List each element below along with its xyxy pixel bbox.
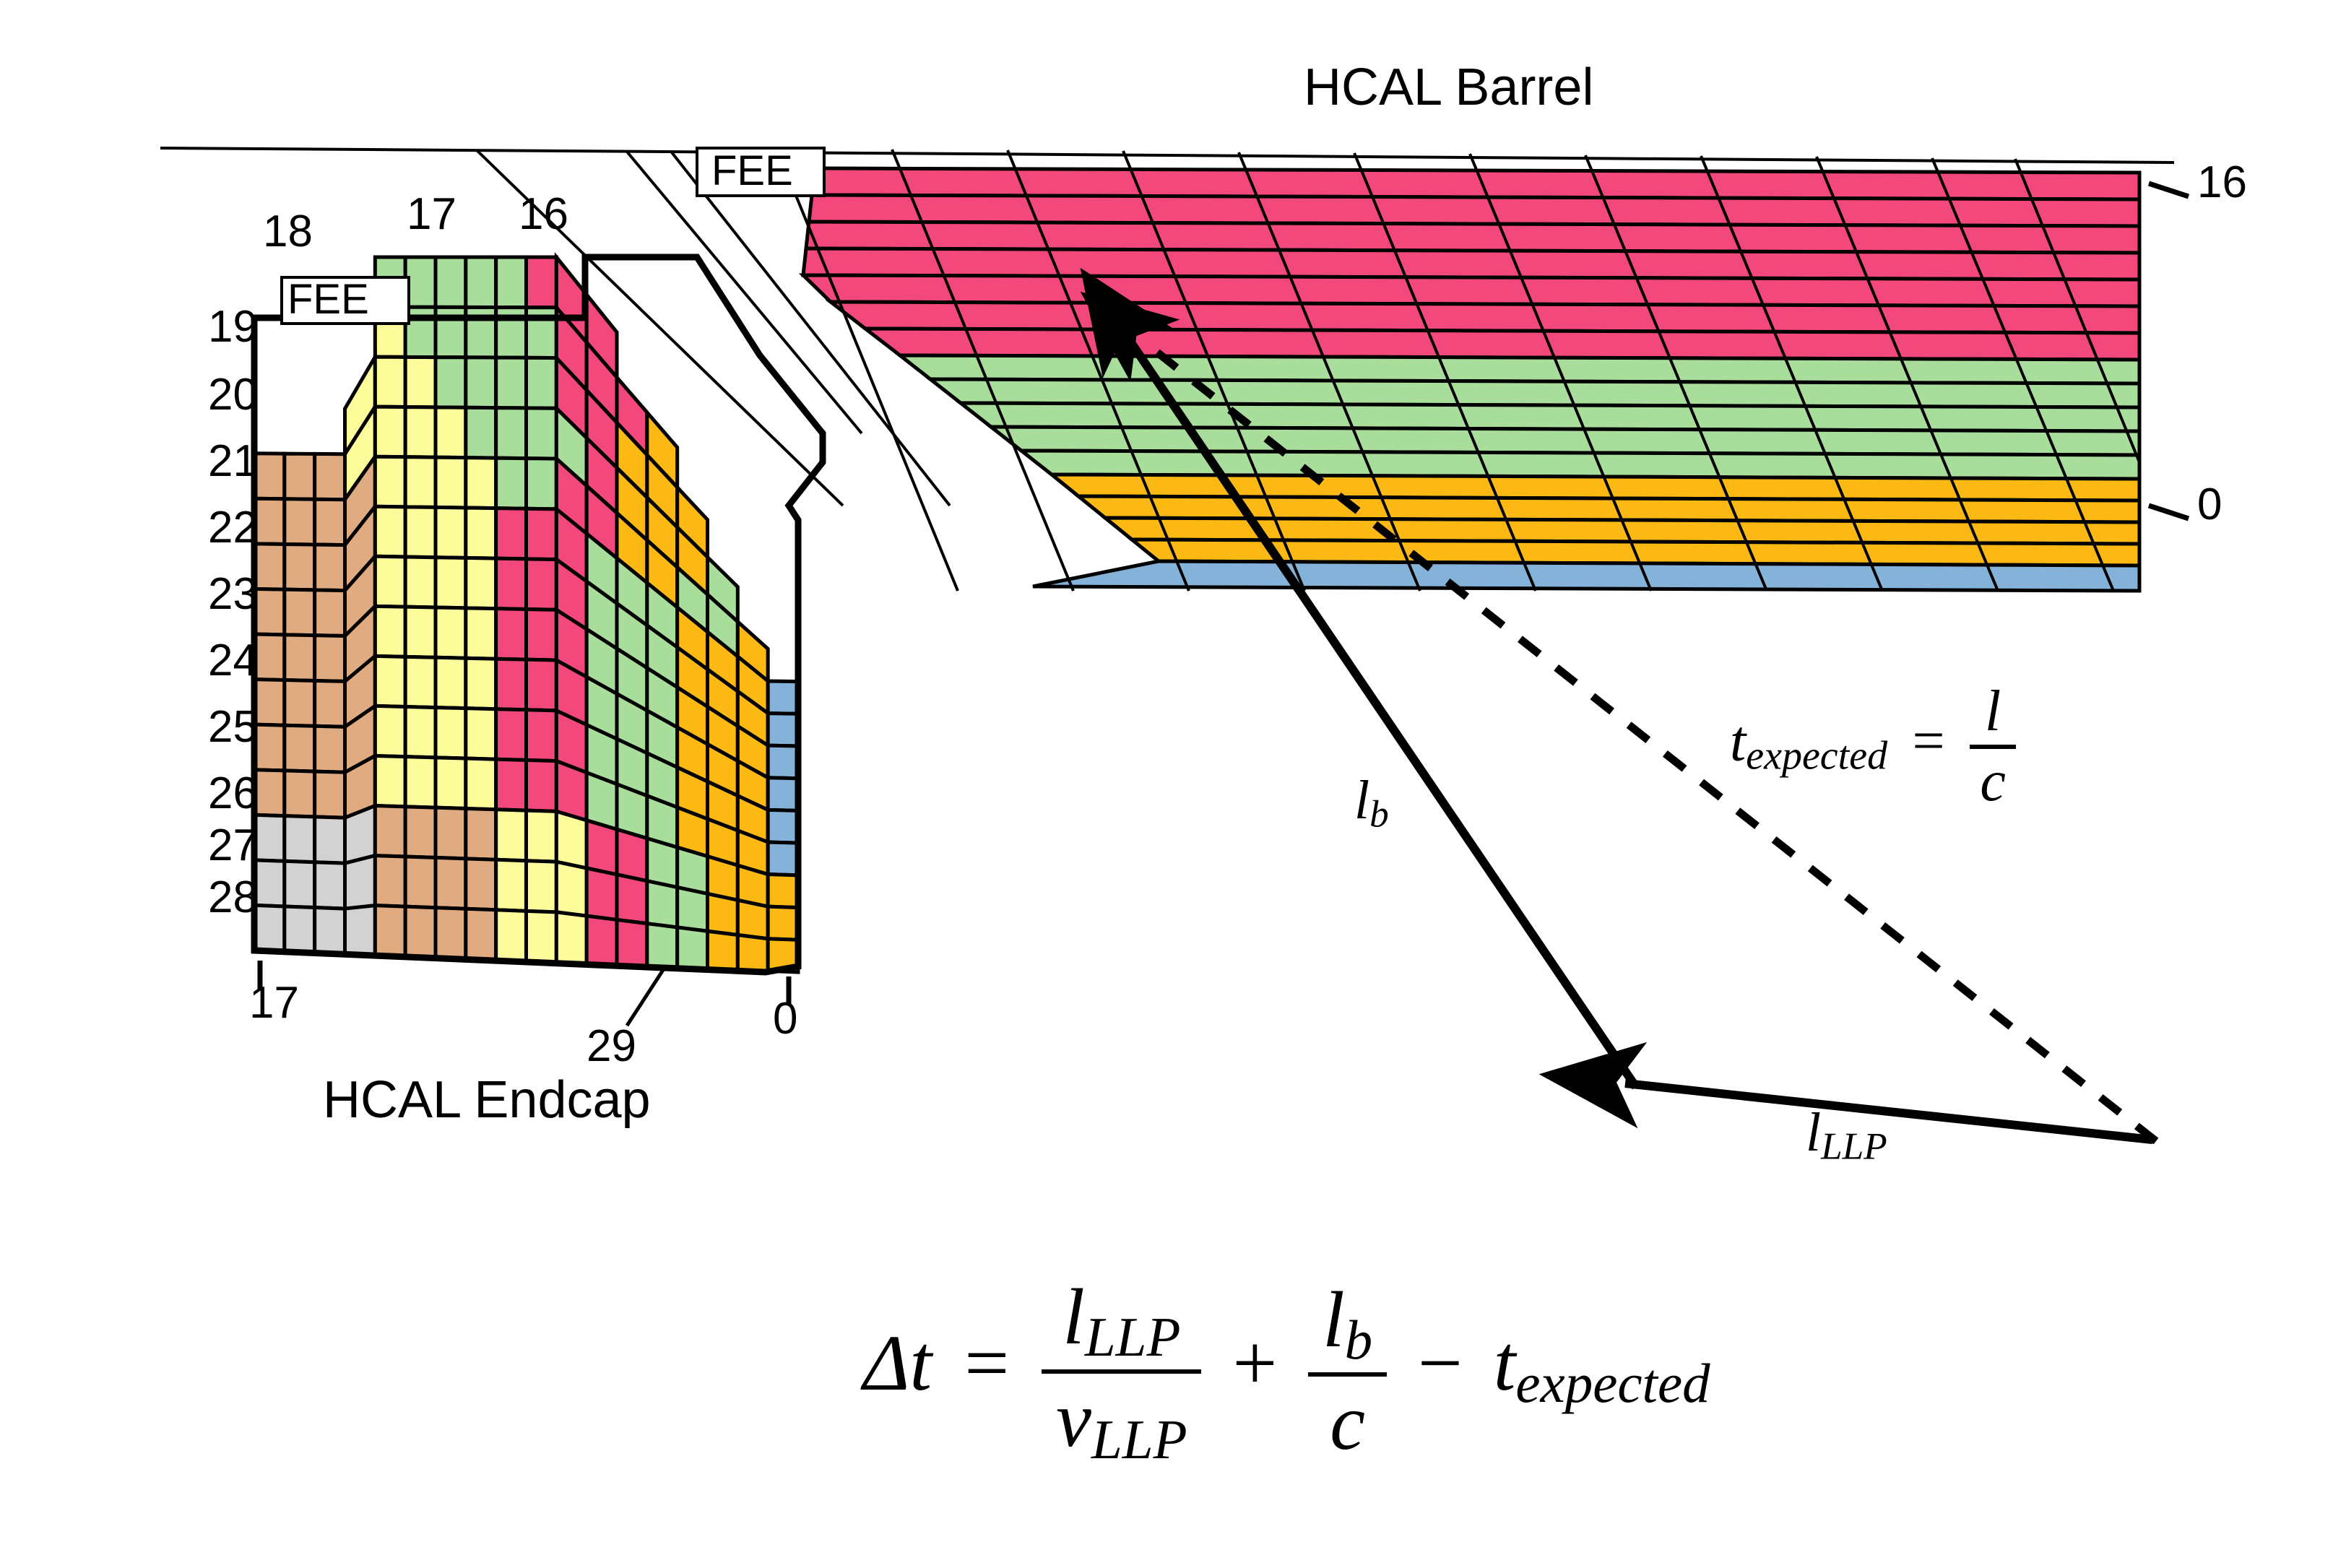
- endcap-cell: [466, 508, 496, 558]
- endcap-cell: [254, 544, 285, 589]
- endcap-cell: [527, 358, 557, 408]
- endcap-cell: [496, 408, 527, 459]
- endcap-cell: [768, 745, 798, 779]
- endcap-cell: [254, 589, 285, 634]
- endcap-cell: [345, 806, 376, 864]
- deltat-lhs: Δt: [863, 1319, 932, 1407]
- endcap-fee-label: FEE: [287, 279, 369, 321]
- endcap-cell: [405, 807, 436, 858]
- endcap-cell: [496, 659, 527, 710]
- endcap-cell: [496, 709, 527, 761]
- endcap-cell: [254, 770, 285, 816]
- endcap-cell: [527, 257, 557, 308]
- endcap-top-label-18: 18: [263, 209, 313, 254]
- barrel-group-blue: [1033, 561, 2139, 591]
- barrel-tick-0: [2149, 506, 2189, 519]
- endcap-cell: [254, 815, 285, 861]
- endcap-cell: [527, 610, 557, 661]
- endcap-cell: [527, 408, 557, 459]
- endcap-cell: [496, 558, 527, 609]
- endcap-row-label-23: 23: [208, 572, 258, 617]
- arrow-lllp: [1625, 1083, 2152, 1140]
- endcap-cell: [436, 758, 466, 809]
- endcap-cell: [405, 857, 436, 908]
- endcap-cell: [768, 906, 798, 940]
- endcap-cell: [466, 558, 496, 608]
- endcap-cell: [737, 900, 768, 938]
- endcap-cell: [466, 808, 496, 859]
- endcap-cell: [254, 680, 285, 726]
- endcap-cell: [315, 590, 345, 636]
- endcap-cell: [527, 760, 557, 811]
- endcap-cell: [556, 862, 586, 916]
- endcap-cell: [285, 499, 315, 545]
- endcap-cell: [436, 407, 466, 458]
- endcap-cell: [285, 635, 315, 681]
- endcap-cell: [375, 806, 405, 857]
- endcap-cell: [405, 707, 436, 758]
- endcap-cell: [315, 726, 345, 772]
- endcap-cell: [315, 908, 345, 954]
- endcap-cell: [708, 893, 738, 935]
- deltat-term2-numerator: lb: [1308, 1274, 1387, 1372]
- endcap-cell: [527, 710, 557, 761]
- deltat-equals: =: [952, 1319, 1022, 1407]
- barrel-group-green: [900, 355, 2139, 479]
- endcap-cell: [527, 559, 557, 610]
- texpected-lhs-sub: expected: [1746, 734, 1887, 779]
- equation-delta-t: Δt = lLLP vLLP + lb c − texpected: [863, 1271, 1710, 1472]
- endcap-cell: [345, 906, 376, 956]
- barrel-fee-label: FEE: [711, 150, 793, 192]
- endcap-cell: [586, 916, 617, 965]
- endcap-cell: [466, 358, 496, 408]
- endcap-cell: [375, 856, 405, 907]
- endcap-cell: [375, 407, 405, 457]
- label-lllp: lLLP: [1806, 1105, 1887, 1166]
- endcap-cell: [436, 558, 466, 608]
- endcap-row-label-22: 22: [208, 506, 258, 550]
- endcap-cell: [768, 681, 798, 714]
- deltat-term1-num-sub: LLP: [1085, 1306, 1181, 1368]
- endcap-cell: [768, 714, 798, 746]
- endcap-row-label-19: 19: [208, 305, 258, 350]
- endcap-cell: [405, 757, 436, 807]
- endcap-cell: [768, 778, 798, 811]
- endcap-bottom-label-0: 0: [773, 997, 797, 1041]
- endcap-cell: [405, 357, 436, 407]
- endcap-cell: [496, 458, 527, 508]
- endcap-cell: [315, 545, 345, 591]
- barrel-layer-stack: [803, 168, 2139, 591]
- deltat-term2-num-sub: b: [1345, 1309, 1373, 1371]
- endcap-cell: [254, 905, 285, 951]
- endcap-cell: [556, 811, 586, 868]
- endcap-row-label-28: 28: [208, 875, 258, 920]
- endcap-cell: [285, 589, 315, 636]
- endcap-cell: [527, 508, 557, 559]
- endcap-cell: [315, 636, 345, 682]
- endcap-cell: [285, 454, 315, 499]
- endcap-bottom-label-17: 17: [249, 981, 299, 1026]
- label-lb-sub: b: [1369, 793, 1389, 836]
- endcap-cell: [527, 861, 557, 912]
- endcap-title: HCAL Endcap: [323, 1074, 651, 1126]
- endcap-cell: [647, 881, 678, 927]
- endcap-cell: [375, 506, 405, 557]
- endcap-cell: [496, 859, 527, 911]
- endcap-cell: [466, 658, 496, 709]
- deltat-term2-denominator: c: [1308, 1372, 1387, 1468]
- deltat-term1-fraction: lLLP vLLP: [1042, 1271, 1201, 1472]
- endcap-cell: [617, 875, 647, 924]
- endcap-cell: [496, 910, 527, 961]
- endcap-cell: [678, 927, 708, 969]
- deltat-op-minus: −: [1406, 1319, 1473, 1407]
- endcap-cell: [405, 657, 436, 707]
- endcap-cell: [436, 708, 466, 758]
- endcap-cell-grid: [254, 257, 798, 972]
- endcap-cell: [375, 906, 405, 957]
- barrel-tick-16: [2149, 183, 2189, 196]
- endcap-cell: [285, 771, 315, 817]
- endcap-cell: [586, 820, 617, 875]
- endcap-cell: [527, 911, 557, 962]
- endcap-cell: [496, 810, 527, 861]
- endcap-cell: [436, 657, 466, 708]
- endcap-cell: [436, 457, 466, 508]
- label-lb: lb: [1354, 773, 1389, 833]
- texpected-equals: =: [1902, 709, 1955, 773]
- deltat-op-plus: +: [1221, 1319, 1289, 1407]
- endcap-row-label-21: 21: [208, 439, 258, 484]
- endcap-cell: [315, 862, 345, 909]
- endcap-row-label-20: 20: [208, 373, 258, 417]
- hcal-endcap-group: [254, 257, 823, 1026]
- endcap-cell: [254, 634, 285, 680]
- label-lllp-sym: l: [1806, 1102, 1821, 1163]
- texpected-denominator: c: [1970, 745, 2016, 815]
- figure-canvas: HCAL Barrel FEE 16 0 HCAL Endcap FEE 18 …: [0, 0, 2346, 1568]
- endcap-cell: [768, 875, 798, 908]
- endcap-cell: [285, 861, 315, 907]
- endcap-cell: [586, 868, 617, 919]
- endcap-cell: [405, 557, 436, 607]
- endcap-cell: [737, 935, 768, 971]
- deltat-term1-numerator: lLLP: [1042, 1271, 1201, 1369]
- endcap-row-label-26: 26: [208, 771, 258, 816]
- endcap-cell: [315, 771, 345, 818]
- texpected-numerator: l: [1970, 679, 2016, 745]
- endcap-cell: [285, 544, 315, 589]
- endcap-cell: [647, 839, 678, 888]
- texpected-lhs-sym: t: [1730, 709, 1746, 773]
- endcap-cell: [466, 458, 496, 508]
- endcap-cell: [466, 709, 496, 760]
- endcap-cell: [375, 706, 405, 756]
- endcap-cell: [315, 454, 345, 499]
- label-lllp-sub: LLP: [1821, 1125, 1887, 1168]
- deltat-term1-denominator: vLLP: [1042, 1369, 1201, 1472]
- endcap-cell: [617, 919, 647, 966]
- deltat-term1-den-sub: LLP: [1091, 1408, 1187, 1470]
- endcap-cell: [375, 606, 405, 657]
- endcap-cell: [496, 759, 527, 810]
- endcap-cell: [527, 659, 557, 711]
- endcap-cell: [768, 842, 798, 875]
- endcap-cell: [375, 556, 405, 607]
- endcap-cell: [496, 508, 527, 559]
- endcap-row-label-27: 27: [208, 823, 258, 868]
- endcap-cell: [375, 357, 405, 407]
- endcap-cell: [768, 810, 798, 843]
- endcap-cell: [254, 454, 285, 499]
- endcap-cell: [285, 906, 315, 953]
- endcap-cell: [254, 498, 285, 544]
- deltat-term1-den-sym: v: [1056, 1375, 1091, 1463]
- endcap-cell: [466, 407, 496, 458]
- endcap-cell: [405, 906, 436, 958]
- endcap-cell: [254, 724, 285, 771]
- endcap-cell: [556, 912, 586, 963]
- deltat-term3-sym: t: [1494, 1319, 1516, 1407]
- equation-texpected: texpected = l c: [1730, 679, 2016, 815]
- barrel-tick-label-16: 16: [2197, 160, 2247, 205]
- endcap-callout-label-29: 29: [586, 1024, 636, 1069]
- texpected-fraction: l c: [1970, 679, 2016, 815]
- endcap-cell: [496, 257, 527, 308]
- endcap-cell: [527, 810, 557, 862]
- endcap-cell: [436, 607, 466, 658]
- endcap-cell: [466, 758, 496, 810]
- endcap-cell: [405, 457, 436, 508]
- barrel-group-orange: [1052, 475, 2139, 566]
- endcap-cell: [315, 499, 345, 545]
- deltat-term2-num-sym: l: [1323, 1275, 1345, 1364]
- endcap-cell: [375, 456, 405, 507]
- endcap-cell: [285, 680, 315, 727]
- endcap-cell: [345, 856, 376, 909]
- endcap-cell: [617, 829, 647, 880]
- endcap-cell: [466, 257, 496, 308]
- endcap-cell: [647, 924, 678, 968]
- endcap-cell: [436, 857, 466, 909]
- endcap-cell: [405, 607, 436, 657]
- endcap-cell: [496, 609, 527, 659]
- endcap-row-label-24: 24: [208, 638, 258, 683]
- endcap-cell: [466, 608, 496, 659]
- endcap-cell: [375, 656, 405, 706]
- endcap-cell: [254, 860, 285, 906]
- label-lb-sym: l: [1354, 770, 1369, 831]
- endcap-cell: [375, 755, 405, 806]
- endcap-cell: [466, 909, 496, 960]
- endcap-cell: [315, 680, 345, 727]
- endcap-cell: [466, 859, 496, 910]
- endcap-top-label-16: 16: [519, 192, 568, 237]
- endcap-callout-29-leader: [627, 968, 665, 1026]
- barrel-group-pink: [803, 168, 2139, 360]
- endcap-cell: [496, 358, 527, 408]
- endcap-cell: [405, 507, 436, 558]
- endcap-cell: [436, 358, 466, 408]
- barrel-tick-label-0: 0: [2197, 482, 2222, 527]
- deltat-term2-fraction: lb c: [1308, 1274, 1387, 1468]
- barrel-title: HCAL Barrel: [1304, 61, 1593, 113]
- endcap-cell: [285, 816, 315, 862]
- endcap-cell: [436, 257, 466, 307]
- deltat-term3-sub: expected: [1515, 1352, 1710, 1414]
- endcap-cell: [708, 931, 738, 969]
- endcap-cell: [436, 908, 466, 959]
- endcap-cell: [315, 817, 345, 863]
- endcap-cell: [285, 725, 315, 771]
- endcap-top-label-17: 17: [407, 192, 456, 237]
- endcap-cell: [436, 807, 466, 859]
- deltat-term1-num-sym: l: [1062, 1273, 1085, 1361]
- endcap-cell: [527, 459, 557, 509]
- endcap-row-label-25: 25: [208, 705, 258, 750]
- endcap-cell: [436, 507, 466, 558]
- endcap-cell: [678, 888, 708, 932]
- endcap-cell: [405, 407, 436, 458]
